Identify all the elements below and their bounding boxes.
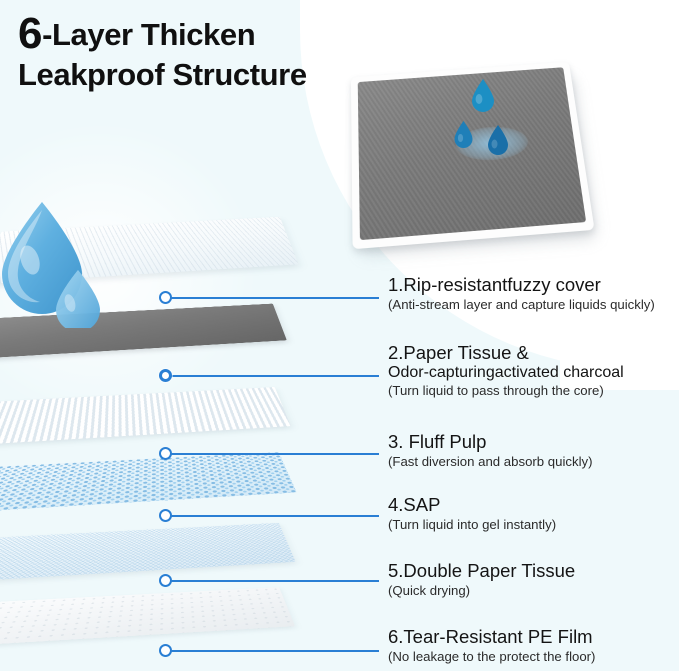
layer-label-2: 2.Paper Tissue & Odor-capturingactivated… [388,343,679,399]
layer-sheet-3-fluff-pulp [0,387,291,445]
layer-label-1-title: 1.Rip-resistantfuzzy cover [388,275,679,296]
layer-stack-diagram [0,190,388,670]
layer-label-2-title: 2.Paper Tissue & [388,343,679,364]
layer-label-6-title: 6.Tear-Resistant PE Film [388,627,679,648]
layer-label-3-subtitle: (Fast diversion and absorb quickly) [388,454,679,470]
layer-label-6: 6.Tear-Resistant PE Film (No leakage to … [388,627,679,665]
layer-label-1-subtitle: (Anti-stream layer and capture liquids q… [388,297,679,313]
layer-label-5-title: 5.Double Paper Tissue [388,561,679,582]
layer-label-4: 4.SAP (Turn liquid into gel instantly) [388,495,679,533]
layer-label-5-subtitle: (Quick drying) [388,583,679,599]
layer-label-1: 1.Rip-resistantfuzzy cover (Anti-stream … [388,275,679,313]
infographic-canvas: 6-Layer Thicken Leakproof Structure [0,0,679,671]
layer-label-6-subtitle: (No leakage to the protect the floor) [388,649,679,665]
layer-label-3-title: 3. Fluff Pulp [388,432,679,453]
title-line-1-rest: -Layer Thicken [42,17,255,52]
title-number: 6 [18,9,42,58]
layer-sheet-6-pe-film [0,587,295,645]
title-line-1: 6-Layer Thicken [18,14,418,54]
layer-label-3: 3. Fluff Pulp (Fast diversion and absorb… [388,432,679,470]
layer-sheet-5-double-tissue [0,523,296,582]
layer-label-4-subtitle: (Turn liquid into gel instantly) [388,517,679,533]
layer-label-4-title: 4.SAP [388,495,679,516]
page-title: 6-Layer Thicken Leakproof Structure [18,14,418,92]
large-water-droplet-icon [0,198,104,333]
layer-labels: 1.Rip-resistantfuzzy cover (Anti-stream … [388,0,679,671]
layer-label-2-title2: Odor-capturingactivated charcoal [388,364,679,382]
title-line-2: Leakproof Structure [18,58,418,93]
layer-label-2-subtitle: (Turn liquid to pass through the core) [388,383,679,399]
layer-label-5: 5.Double Paper Tissue (Quick drying) [388,561,679,599]
layer-sheet-4-sap-beads [0,452,297,513]
